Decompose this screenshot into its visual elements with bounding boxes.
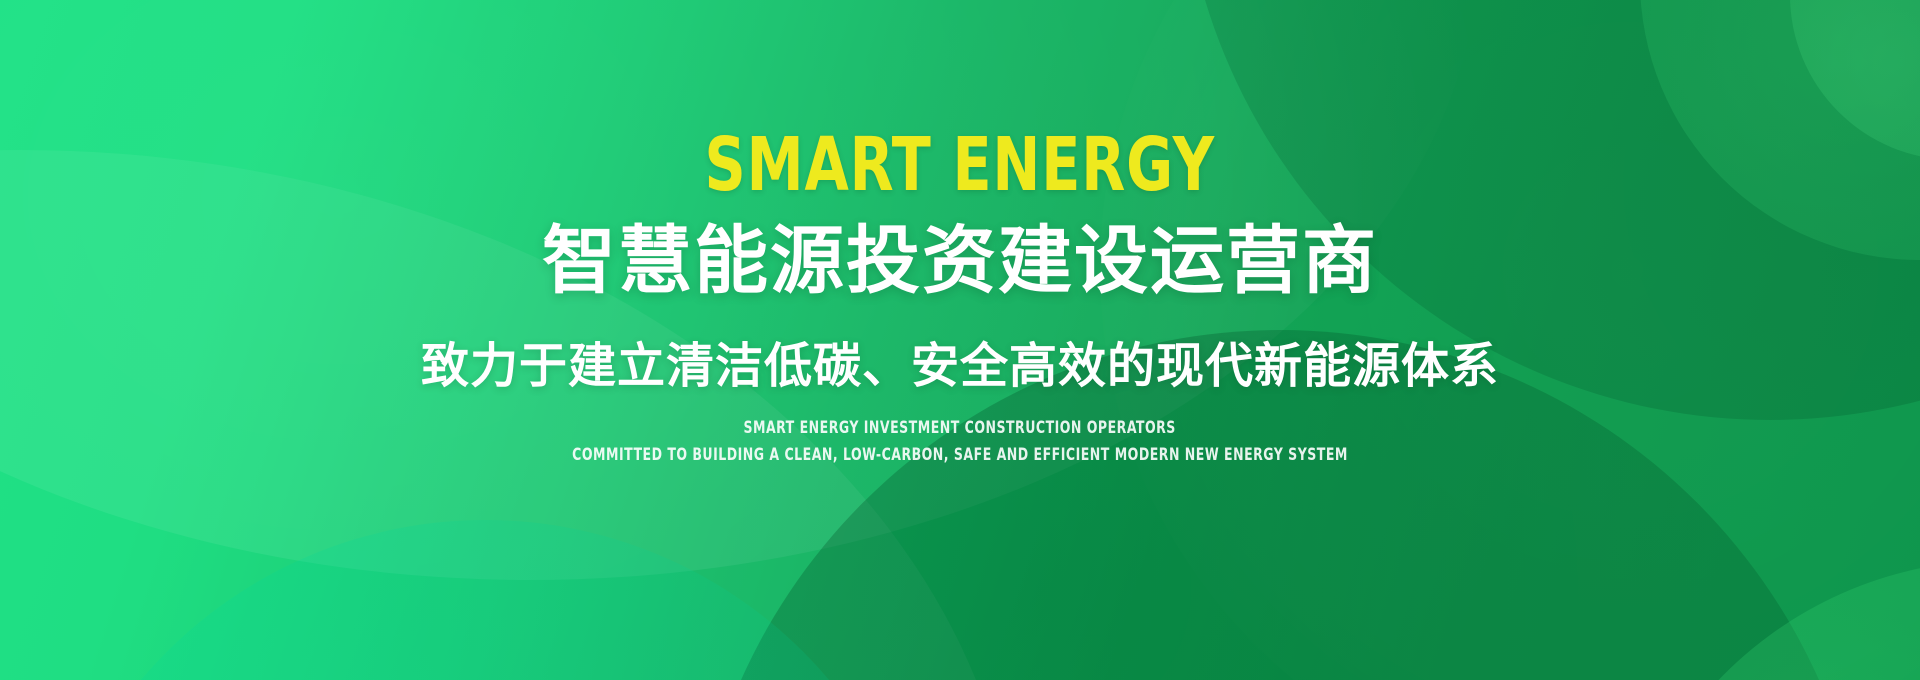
banner-eyebrow: SMART ENERGY bbox=[705, 128, 1215, 202]
banner-caption-block: SMART ENERGY INVESTMENT CONSTRUCTION OPE… bbox=[487, 418, 1433, 467]
banner-subheadline: 致力于建立清洁低碳、安全高效的现代新能源体系 bbox=[421, 342, 1499, 390]
banner-caption-line-1: SMART ENERGY INVESTMENT CONSTRUCTION OPE… bbox=[744, 418, 1176, 439]
hero-banner: SMART ENERGY 智慧能源投资建设运营商 致力于建立清洁低碳、安全高效的… bbox=[0, 0, 1920, 680]
banner-headline: 智慧能源投资建设运营商 bbox=[542, 224, 1378, 298]
banner-caption-line-2: COMMITTED TO BUILDING A CLEAN, LOW-CARBO… bbox=[572, 445, 1348, 466]
banner-content: SMART ENERGY 智慧能源投资建设运营商 致力于建立清洁低碳、安全高效的… bbox=[0, 0, 1920, 680]
